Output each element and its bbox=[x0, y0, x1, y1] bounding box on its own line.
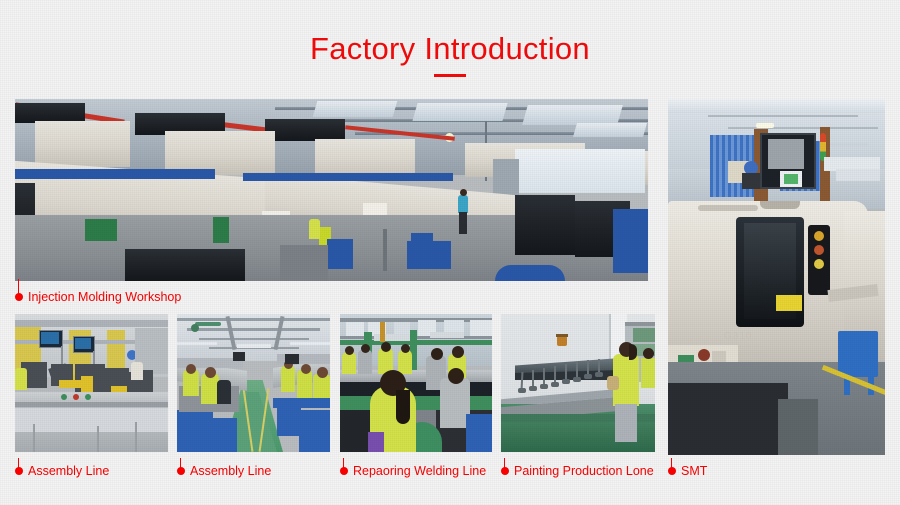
caption-text: Repaoring Welding Line bbox=[353, 464, 486, 478]
photo-injection-molding-workshop[interactable]: 1#机 bbox=[15, 99, 648, 281]
bullet-dot-icon bbox=[15, 467, 23, 475]
slide-canvas: Factory Introduction bbox=[0, 0, 900, 505]
bullet-dot-icon bbox=[501, 467, 509, 475]
caption-painting-production-line: Painting Production Lone bbox=[501, 462, 654, 480]
photo-scene bbox=[177, 314, 330, 452]
bullet-dot-icon bbox=[177, 467, 185, 475]
caption-assembly-line-1: Assembly Line bbox=[15, 462, 109, 480]
photo-scene: 1#机 bbox=[15, 99, 648, 281]
bullet-dot-icon bbox=[668, 467, 676, 475]
page-title: Factory Introduction bbox=[0, 30, 900, 68]
caption-text: Injection Molding Workshop bbox=[28, 290, 181, 304]
page-title-block: Factory Introduction bbox=[0, 30, 900, 77]
photo-smt[interactable]: G310 bbox=[668, 99, 885, 455]
title-underline-rule bbox=[434, 74, 466, 77]
machine-brand-label: G310 bbox=[724, 331, 752, 342]
photo-scene bbox=[501, 314, 655, 452]
photo-repairing-welding-line[interactable] bbox=[340, 314, 492, 452]
photo-painting-production-line[interactable] bbox=[501, 314, 655, 452]
caption-assembly-line-2: Assembly Line bbox=[177, 462, 271, 480]
caption-repairing-welding-line: Repaoring Welding Line bbox=[340, 462, 486, 480]
photo-scene bbox=[15, 314, 168, 452]
bullet-dot-icon bbox=[340, 467, 348, 475]
caption-text: Assembly Line bbox=[28, 464, 109, 478]
caption-smt: SMT bbox=[668, 462, 707, 480]
caption-text: SMT bbox=[681, 464, 707, 478]
photo-scene: G310 bbox=[668, 99, 885, 455]
caption-text: Assembly Line bbox=[190, 464, 271, 478]
caption-injection-molding-workshop: Injection Molding Workshop bbox=[15, 288, 181, 306]
photo-scene bbox=[340, 314, 492, 452]
bullet-dot-icon bbox=[15, 293, 23, 301]
caption-text: Painting Production Lone bbox=[514, 464, 654, 478]
photo-assembly-line-1[interactable] bbox=[15, 314, 168, 452]
photo-assembly-line-2[interactable] bbox=[177, 314, 330, 452]
